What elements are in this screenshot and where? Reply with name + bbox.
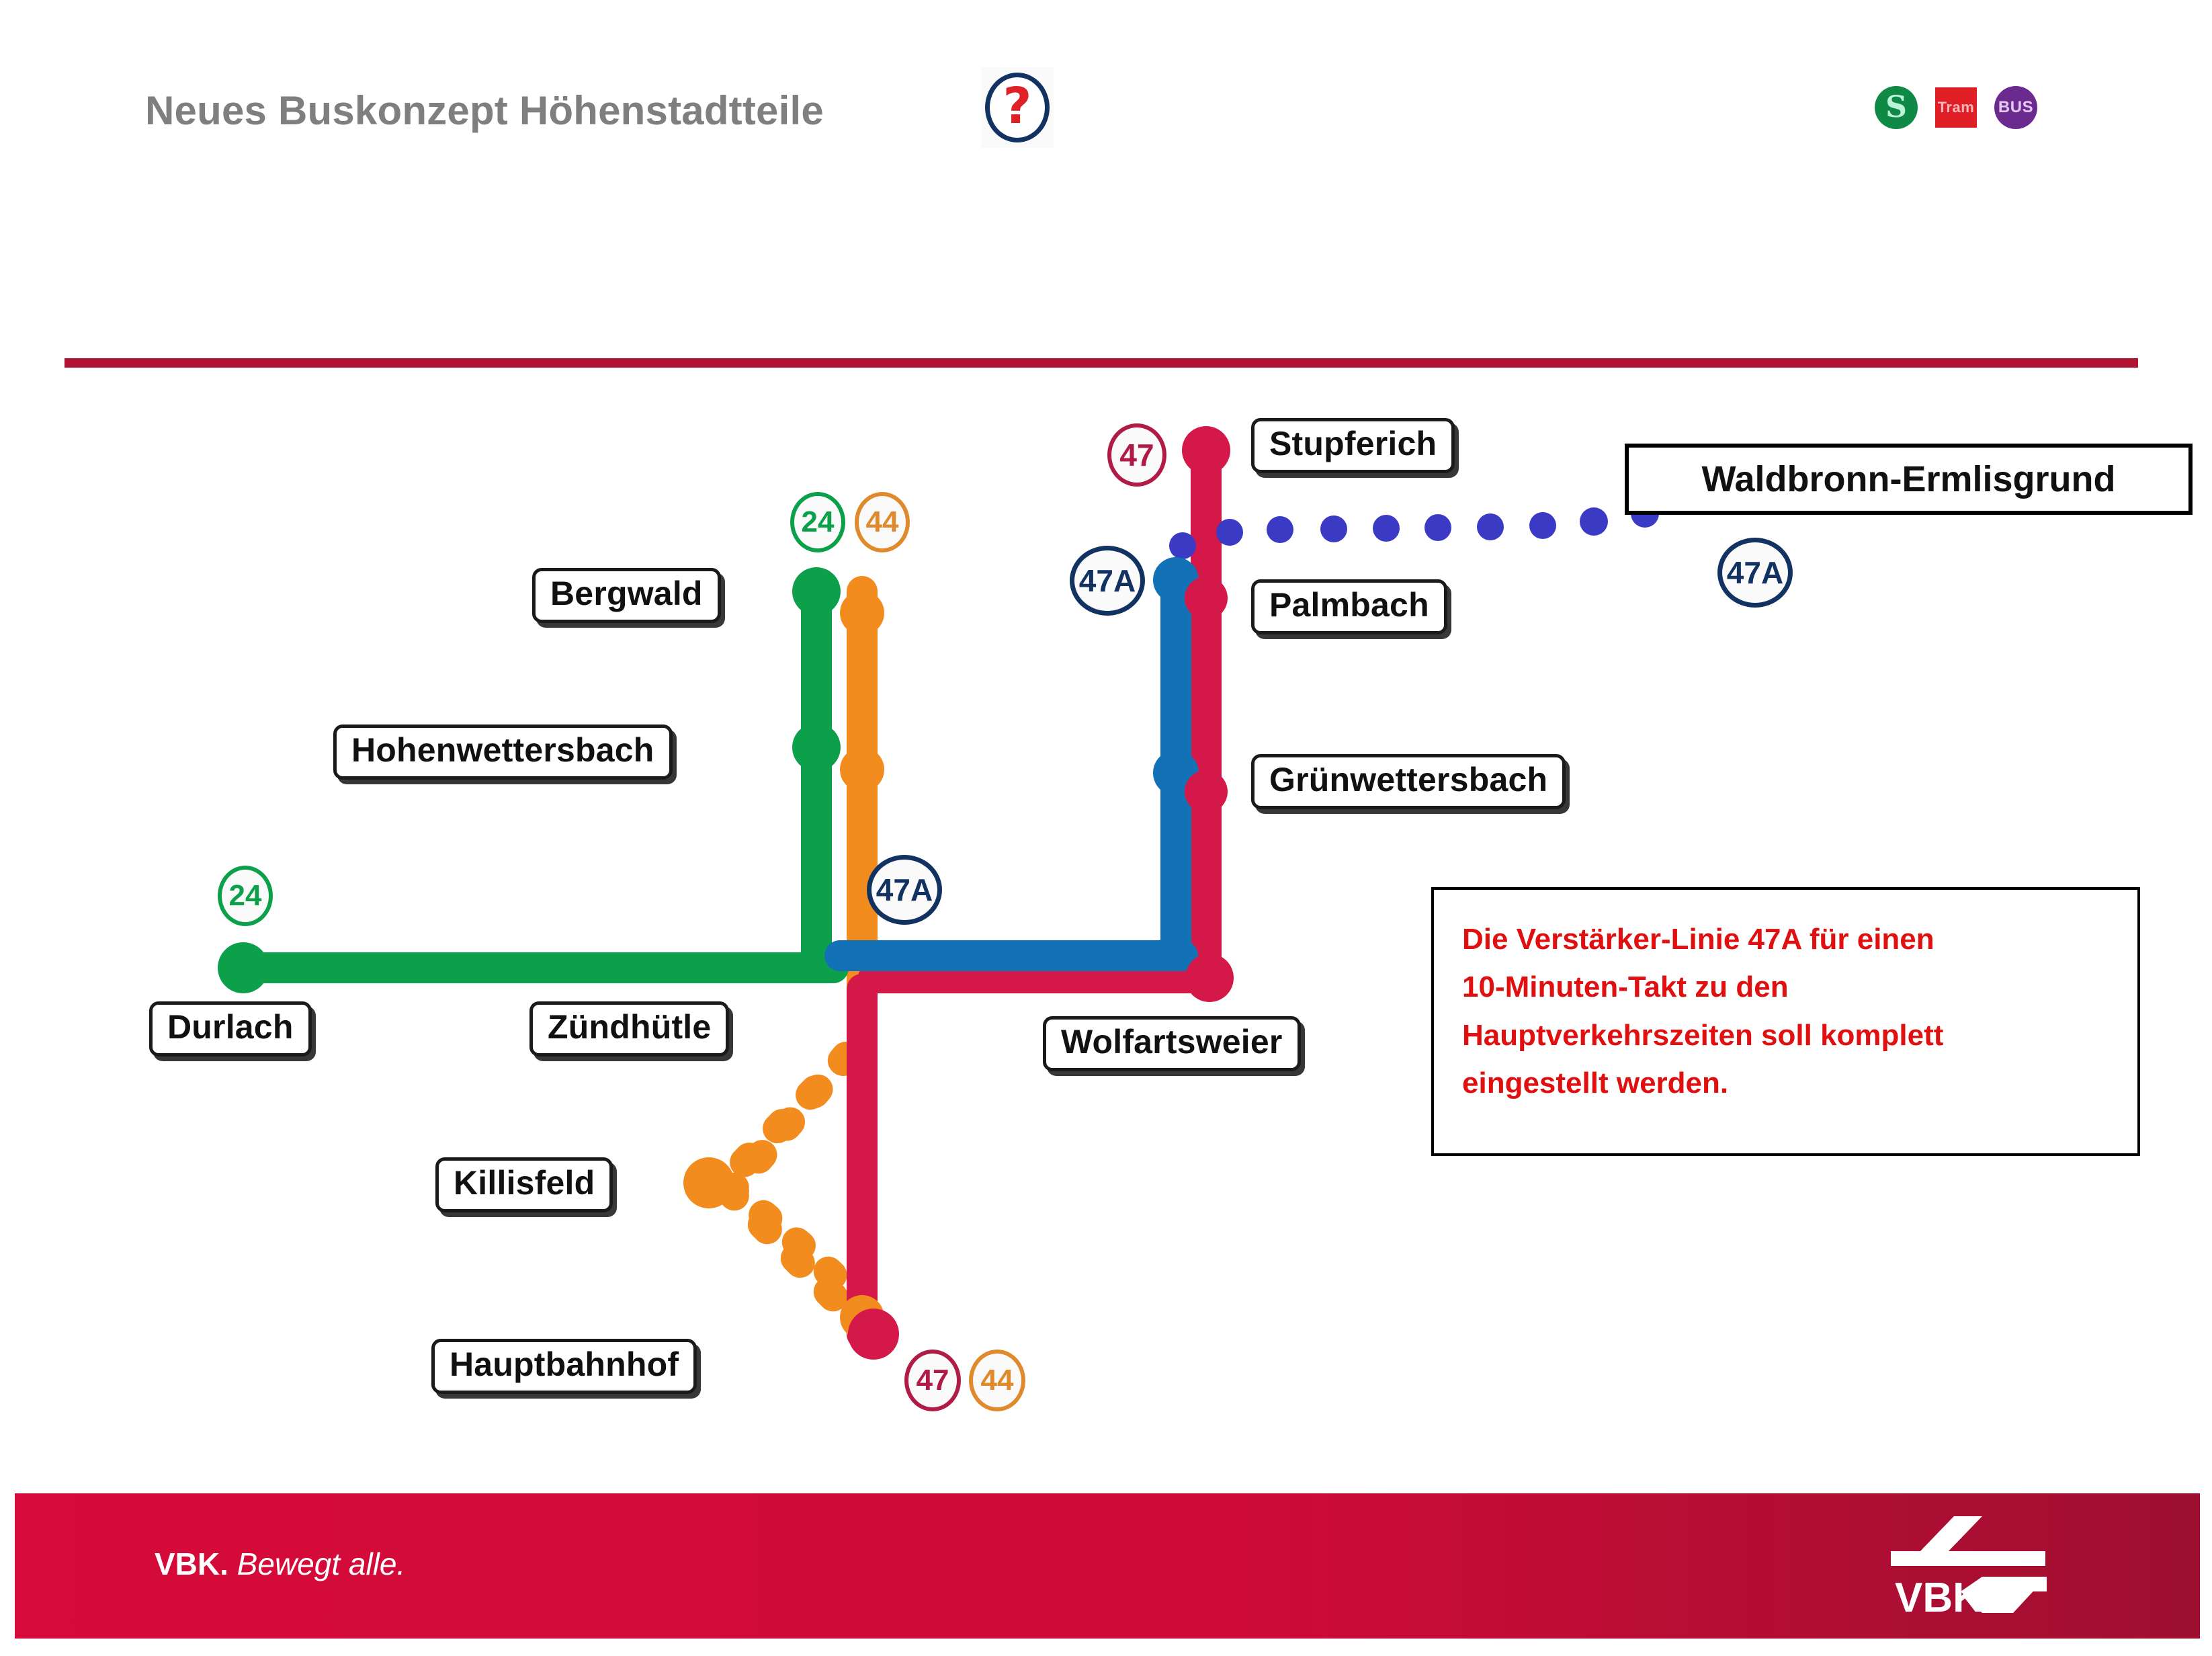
route-badge-24-bergwald[interactable]: 24 [790,492,845,552]
route-badge-44-bergwald[interactable]: 44 [855,492,910,552]
transport-mode-icons: S Tram BUS [1875,86,2037,129]
station-dot-stupferich [1182,426,1230,474]
question-mark-glyph: ? [1003,81,1032,131]
help-ring: ? [985,73,1050,142]
route-badge-47a-palmbach[interactable]: 47A [1070,546,1145,616]
s-bahn-icon: S [1875,86,1918,129]
help-question-icon[interactable]: ? [981,67,1054,148]
station-label-hauptbahnhof: Hauptbahnhof [431,1339,697,1394]
route-badge-47a-waldbronn[interactable]: 47A [1717,538,1793,608]
station-dot-durlach [218,942,269,993]
route-badge-44-hauptbahnhof[interactable]: 44 [969,1350,1025,1411]
station-label-palmbach: Palmbach [1251,579,1447,634]
station-label-durlach: Durlach [149,1001,312,1057]
route-badge-47-stupferich[interactable]: 47 [1107,423,1166,487]
callout-waldbronn-ermlisgrund: Waldbronn-Ermlisgrund [1625,444,2193,515]
station-label-gruenwettersbach: Grünwettersbach [1251,754,1566,809]
station-label-killisfeld: Killisfeld [435,1157,613,1212]
route-badge-47a-zuendhuetle[interactable]: 47A [867,855,942,925]
note-line-1: Die Verstärker-Linie 47A für einen [1462,915,2109,963]
station-dot-bergwald-24 [792,567,841,616]
footer-claim: VBK. Bewegt alle. [155,1546,405,1582]
station-dot-killisfeld [683,1157,734,1208]
bus-icon: BUS [1994,86,2037,129]
waldbronn-dotted-connection [1169,499,1659,559]
header-divider-rule [65,358,2138,368]
station-label-zuendhuetle: Zündhütle [529,1001,729,1057]
station-dot-hauptbahnhof-47 [848,1309,899,1360]
tram-icon: Tram [1935,87,1977,128]
page-title: Neues Buskonzept Höhenstadtteile [145,87,824,134]
footer-claim-brand: VBK. [155,1546,228,1581]
station-dot-hohenwettersbach-44 [840,747,884,792]
note-line-3: Hauptverkehrszeiten soll komplett [1462,1011,2109,1059]
route-badge-24-durlach[interactable]: 24 [218,866,273,926]
vbk-logo-text: VBK [1895,1575,1983,1620]
station-dot-wolfartsweier [1185,954,1234,1002]
annotation-note-47a: Die Verstärker-Linie 47A für einen 10-Mi… [1431,887,2140,1156]
footer-claim-slogan: Bewegt alle. [228,1546,405,1581]
line-24-green [242,591,833,968]
station-label-stupferich: Stupferich [1251,418,1455,473]
note-line-4: eingestellt werden. [1462,1059,2109,1107]
station-dot-gruenwettersbach-47 [1185,770,1228,813]
station-dot-hohenwettersbach-24 [792,723,841,772]
station-dot-bergwald-44 [840,591,884,635]
station-label-wolfartsweier: Wolfartsweier [1043,1016,1301,1071]
note-line-2: 10-Minuten-Takt zu den [1462,963,2109,1011]
station-dot-palmbach-47 [1185,577,1228,620]
station-label-hohenwettersbach: Hohenwettersbach [333,724,673,780]
station-label-bergwald: Bergwald [532,568,721,623]
route-badge-47-hauptbahnhof[interactable]: 47 [904,1350,961,1411]
vbk-logo: VBK [1881,1512,2063,1620]
